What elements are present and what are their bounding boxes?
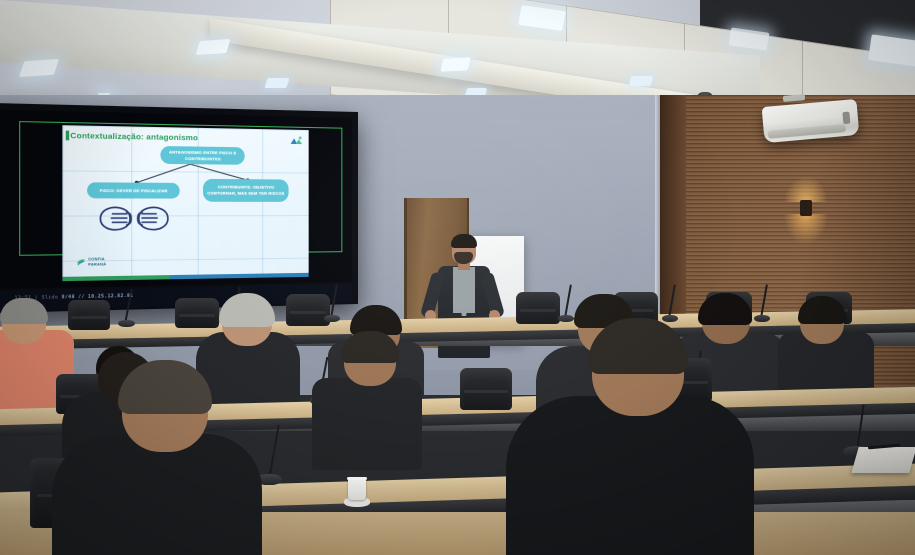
presenter-shirt <box>453 267 475 313</box>
ac-vent <box>768 124 846 139</box>
slide-logo-confia-parana: CONFIA PARANÁ <box>76 257 106 267</box>
microphone-stem[interactable] <box>268 425 280 481</box>
chair[interactable] <box>68 300 110 330</box>
microphone-base[interactable] <box>324 315 340 322</box>
conference-room-photo: Contextualização: antagonismo ANTAGONISM… <box>0 0 915 555</box>
ceiling-light-panel <box>629 76 653 86</box>
confia-leaf-icon <box>76 257 86 267</box>
presenter-hair <box>451 234 477 248</box>
ceiling-light-panel <box>196 39 231 55</box>
slide-box-contribuinte: CONTRIBUINTE: OBJETIVO CONTORNAR, MAS SE… <box>203 179 289 202</box>
chair[interactable] <box>286 294 330 326</box>
presentation-slide: Contextualização: antagonismo ANTAGONISM… <box>62 125 308 281</box>
slide-corner-logo-icon <box>290 135 304 146</box>
slide-box-fisco: FISCO: DEVER DE FISCALIZAR <box>87 182 180 198</box>
ceiling-light-panel <box>264 78 289 88</box>
microphone-base[interactable] <box>662 315 678 322</box>
status-label: Slide <box>42 295 59 301</box>
slide-box-antagonismo: ANTAGONISMO ENTRE FISCO E CONTRIBUINTES <box>160 146 244 165</box>
microphone-base[interactable] <box>118 320 135 327</box>
slide-title-accent-bar <box>66 131 69 141</box>
slide-title: Contextualização: antagonismo <box>70 131 198 143</box>
projection-screen[interactable]: Contextualização: antagonismo ANTAGONISM… <box>0 103 358 313</box>
slide-logo-text: CONFIA PARANÁ <box>88 257 106 266</box>
sconce-uplight-glow <box>784 176 828 202</box>
microphone-base[interactable] <box>558 315 574 322</box>
screen-surface: Contextualização: antagonismo ANTAGONISM… <box>0 110 352 289</box>
ceiling-light-panel <box>19 59 59 77</box>
wall-sconce-icon <box>800 200 812 216</box>
open-notebook[interactable] <box>851 447 915 473</box>
chair[interactable] <box>175 298 219 328</box>
ceiling-light-panel <box>440 57 470 71</box>
chair[interactable] <box>516 292 560 324</box>
microphone-base[interactable] <box>754 315 770 322</box>
slide-logo-line1: CONFIA <box>88 257 106 262</box>
opposing-fists-icon <box>96 201 172 237</box>
slide-logo-line2: PARANÁ <box>88 262 106 267</box>
chair[interactable] <box>460 368 512 410</box>
paper-coffee-cup[interactable] <box>348 478 366 500</box>
sconce-downlight-glow <box>784 214 828 244</box>
ac-display <box>842 112 850 125</box>
